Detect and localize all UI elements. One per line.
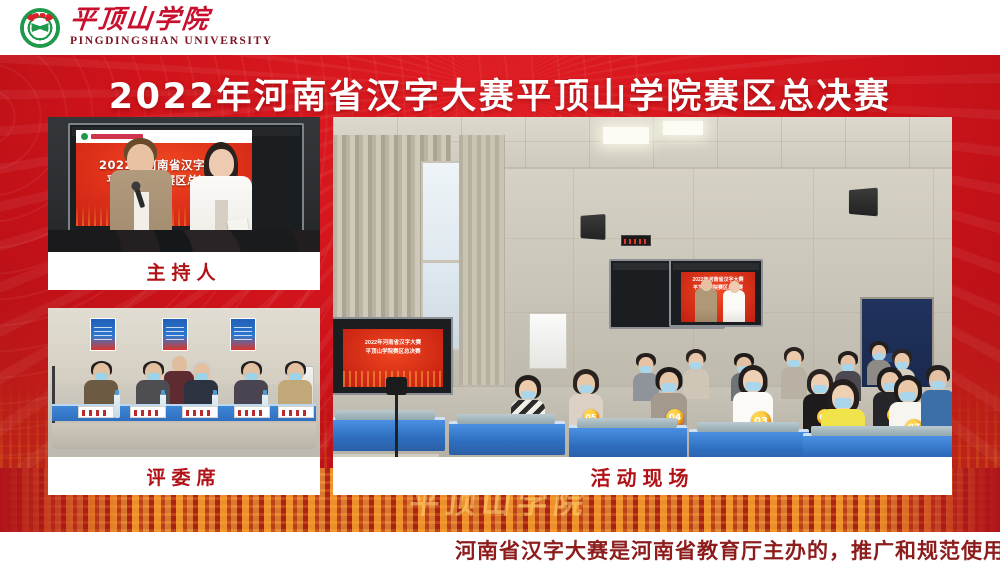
wall-speaker	[849, 188, 878, 217]
desk-tray	[811, 426, 952, 436]
desk-tray	[697, 422, 799, 432]
display-screen-right: 2022年河南省汉字大赛 平顶山学院赛区总决赛	[669, 259, 763, 327]
face-mask-icon	[835, 398, 852, 408]
face-mask-icon	[745, 382, 761, 391]
page-title: 2022年河南省汉字大赛平顶山学院赛区总决赛	[0, 68, 1000, 119]
screen-host-male	[695, 288, 717, 322]
projector-line2: 平顶山学院赛区总决赛	[365, 349, 420, 355]
projector-line1: 2022年河南省汉字大赛	[365, 340, 421, 346]
face-mask-icon	[662, 383, 677, 392]
university-logo: 平顶山学院 PINGDINGSHAN UNIVERSITY	[20, 7, 273, 48]
screen-content-hosts: 2022年河南省汉字大赛 平顶山学院赛区总决赛	[681, 272, 755, 322]
host-female-head	[209, 149, 234, 178]
camera-tripod	[395, 393, 398, 457]
whiteboard	[529, 313, 567, 369]
face-mask-icon	[521, 391, 535, 399]
wall-poster	[90, 318, 116, 351]
logo-text: 平顶山学院 PINGDINGSHAN UNIVERSITY	[70, 7, 273, 48]
university-emblem-icon	[20, 8, 60, 48]
judge-nameplate	[182, 406, 218, 418]
footer-area: 河南省汉字大赛是河南省教育厅主办的，推广和规范使用	[0, 532, 1000, 562]
photo-panel-judges: 评委席	[48, 308, 320, 495]
logo-english-name: PINGDINGSHAN UNIVERSITY	[70, 36, 273, 48]
desk-tray	[335, 410, 435, 420]
wall-speaker	[581, 214, 606, 240]
foreground-audience-silhouette	[48, 230, 320, 252]
face-mask-icon	[690, 362, 702, 369]
ceiling-light	[663, 121, 703, 135]
caption-judges: 评委席	[48, 457, 320, 495]
photo-scene: 2022年河南省汉字大赛 平顶山学院赛区总决赛 2022年河南省汉字大赛 平顶山…	[333, 117, 952, 457]
judge-nameplate	[234, 406, 270, 418]
student-desk	[569, 425, 687, 457]
screen-title: 2022年河南省汉字大赛 平顶山学院赛区总决赛	[681, 277, 755, 292]
desk-tray	[577, 418, 677, 428]
caption-hosts: 主持人	[48, 252, 320, 290]
projector-slide-text: 2022年河南省汉字大赛 平顶山学院赛区总决赛	[343, 339, 443, 358]
judge-nameplate	[78, 406, 114, 418]
student-desk	[333, 417, 445, 451]
photo-panel-hosts: 2022年河南省汉字大赛 平顶山学院赛区总决赛 河南·平顶山 2022年11月 …	[48, 117, 320, 290]
photo-judges	[48, 308, 320, 457]
footer-description-text: 河南省汉字大赛是河南省教育厅主办的，推广和规范使用	[455, 535, 1000, 562]
face-mask-icon	[788, 360, 800, 367]
judge-nameplate	[130, 406, 166, 418]
face-mask-icon	[579, 385, 593, 393]
logo-chinese-name: 平顶山学院	[69, 7, 274, 33]
wall-poster	[230, 318, 256, 351]
student-desk	[449, 421, 565, 455]
water-bottle	[114, 394, 120, 418]
screen-host-female	[723, 290, 745, 322]
caption-scene: 活动现场	[333, 457, 952, 495]
face-mask-icon	[874, 353, 885, 360]
student-desk	[803, 433, 952, 457]
judge-nameplate	[278, 406, 314, 418]
window-curtain	[459, 135, 505, 385]
led-clock-display	[621, 235, 651, 246]
photo-hosts: 2022年河南省汉字大赛 平顶山学院赛区总决赛 河南·平顶山 2022年11月	[48, 117, 320, 252]
photo-panel-scene: 2022年河南省汉字大赛 平顶山学院赛区总决赛 2022年河南省汉字大赛 平顶山…	[333, 117, 952, 495]
wall-poster	[162, 318, 188, 351]
screen-toolbar	[673, 263, 759, 270]
desk-tray	[457, 414, 555, 424]
face-mask-icon	[842, 364, 854, 371]
face-mask-icon	[931, 381, 945, 389]
ceiling-light	[603, 127, 649, 144]
face-mask-icon	[900, 392, 916, 401]
student-desk	[689, 429, 809, 457]
page-header: 平顶山学院 PINGDINGSHAN UNIVERSITY	[0, 0, 1000, 55]
